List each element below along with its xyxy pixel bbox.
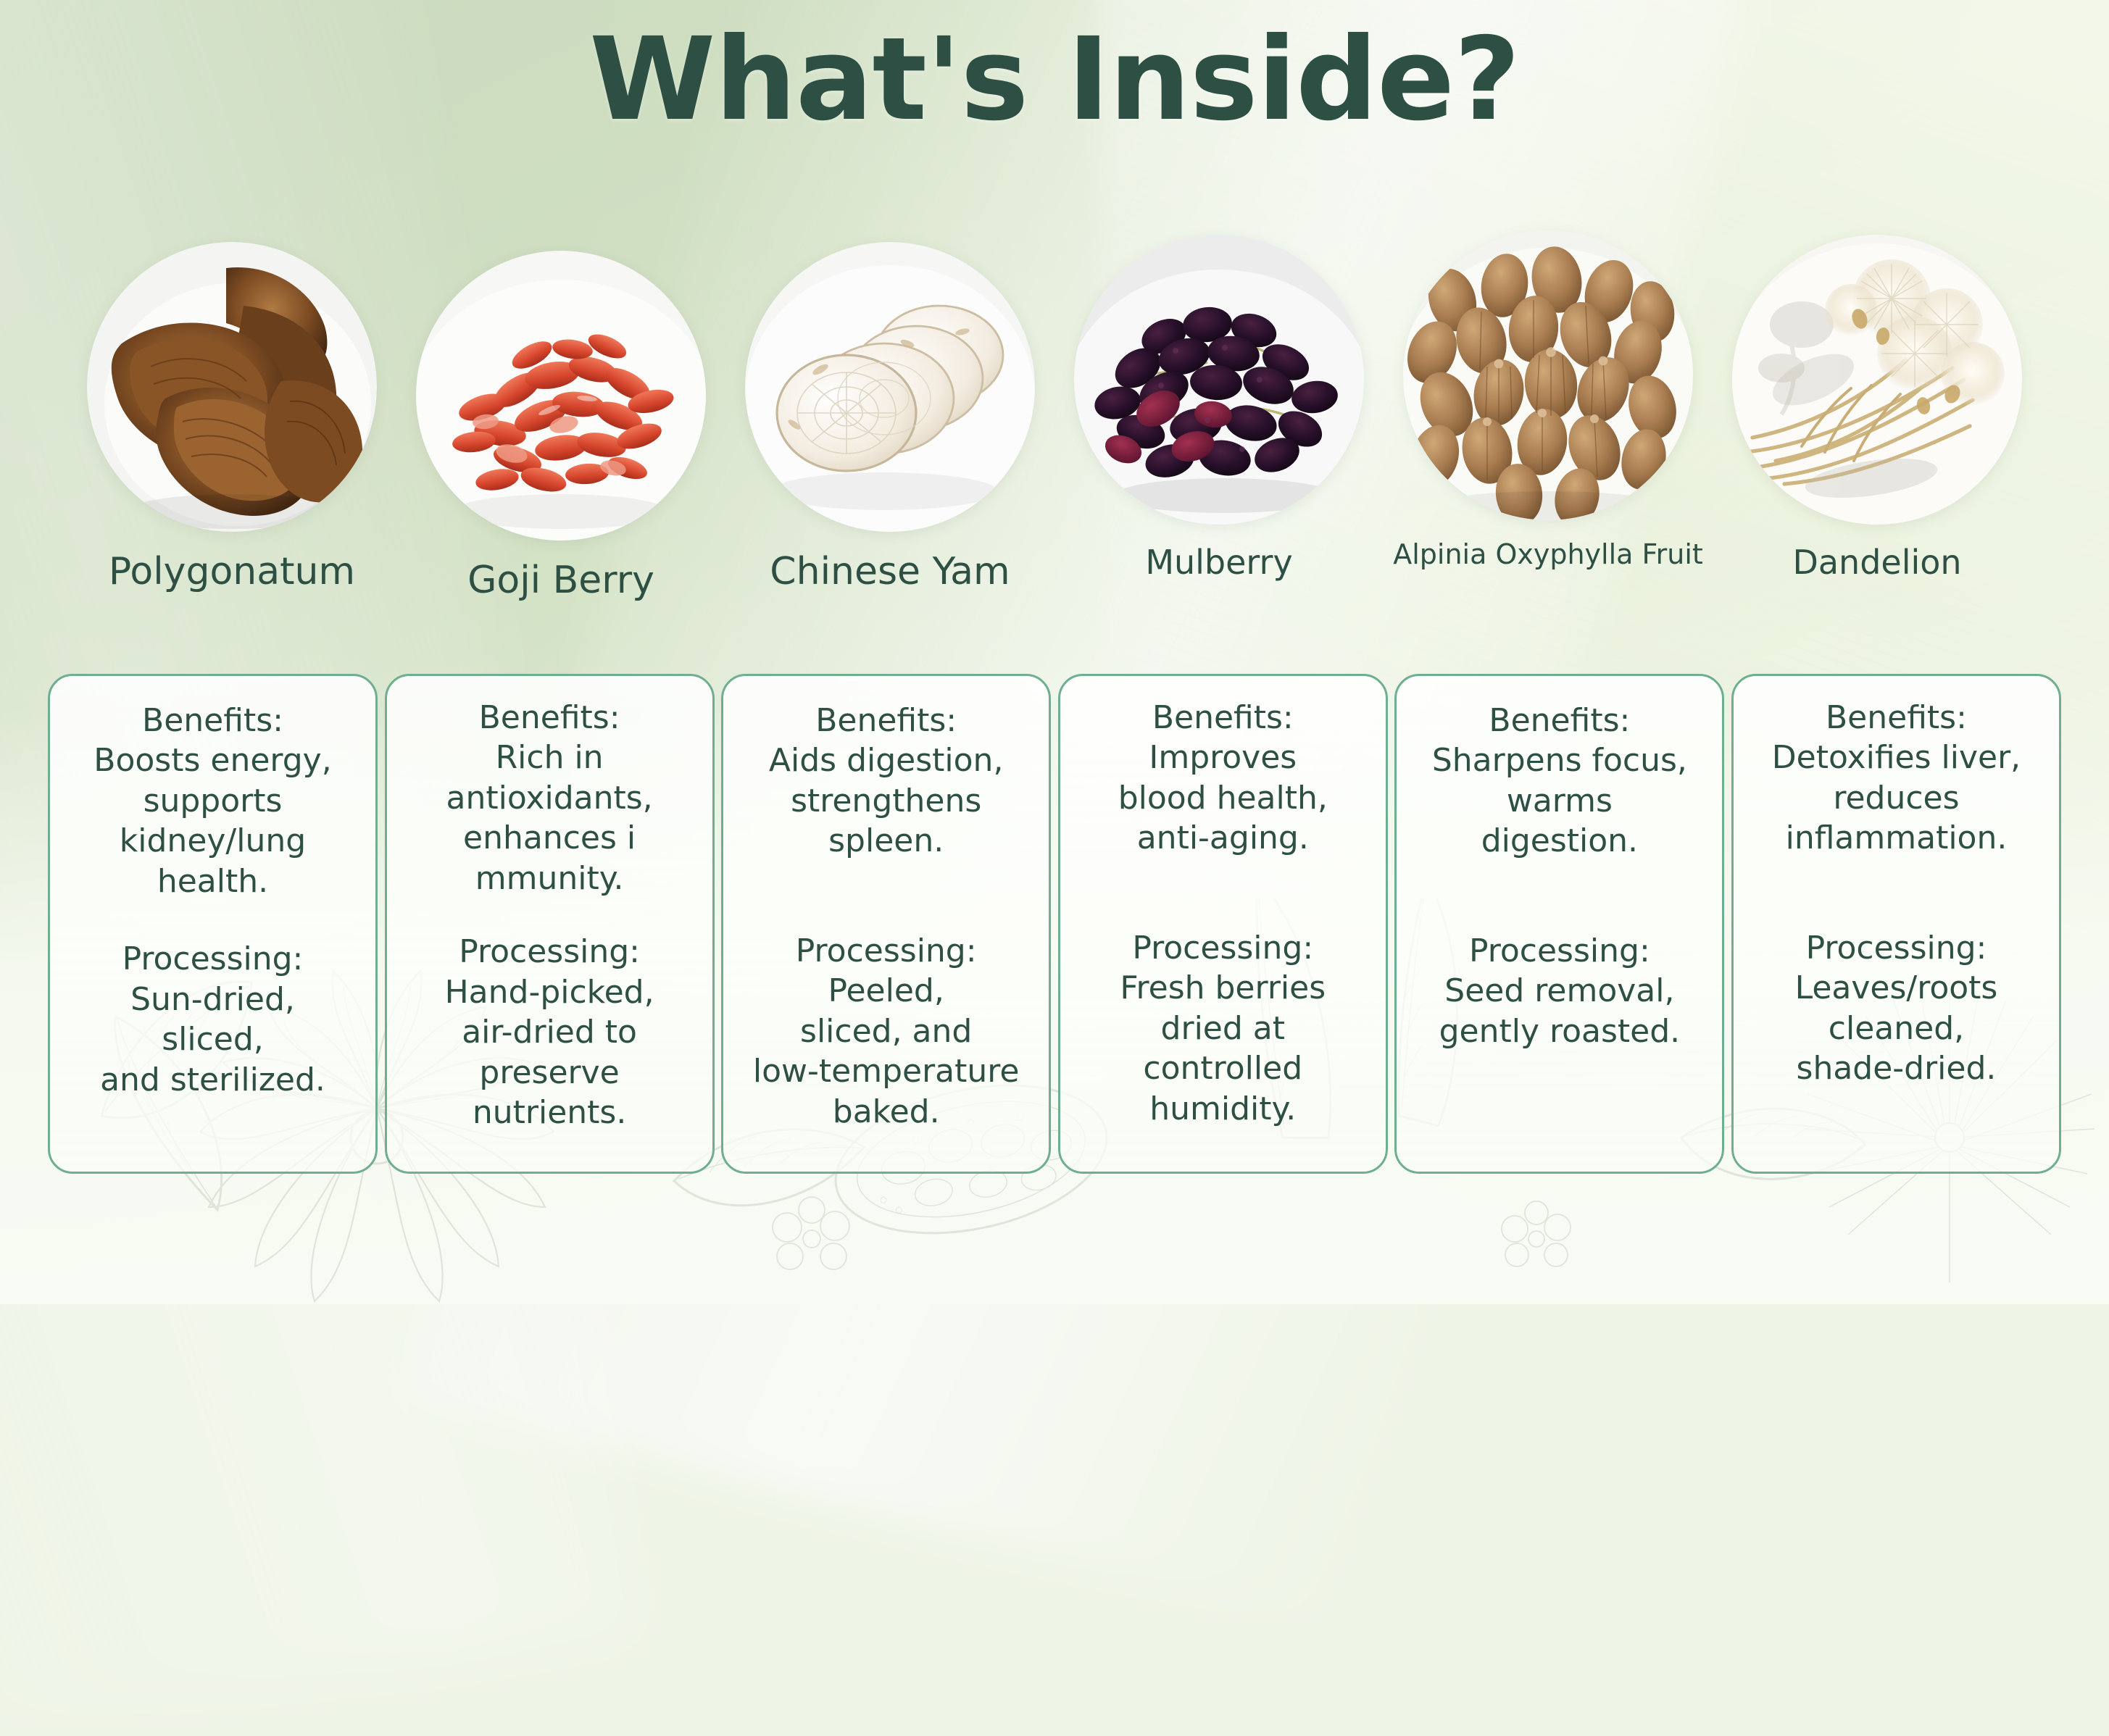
processing-text: Processing: Sun-dried, sliced, and steri… <box>100 939 325 1100</box>
processing-text: Processing: Fresh berries dried at contr… <box>1120 928 1326 1129</box>
ingredient-alpinia-oxyphylla-fruit[interactable]: Alpinia Oxyphylla Fruit <box>1396 230 1700 569</box>
ingredient-chinese-yam[interactable]: Chinese Yam <box>738 242 1042 592</box>
polygonatum-image <box>87 242 377 532</box>
info-card-polygonatum[interactable]: Benefits: Boosts energy, supports kidney… <box>48 674 378 1174</box>
ingredient-polygonatum[interactable]: Polygonatum <box>80 242 384 592</box>
info-card-dandelion[interactable]: Benefits: Detoxifies liver, reduces infl… <box>1731 674 2061 1174</box>
processing-text: Processing: Peeled, sliced, and low-temp… <box>753 931 1020 1132</box>
ingredient-mulberry[interactable]: Mulberry <box>1067 235 1371 580</box>
ingredient-dandelion[interactable]: Dandelion <box>1725 235 2029 580</box>
benefits-text: Benefits: Rich in antioxidants, enhances… <box>446 698 653 898</box>
benefits-text: Benefits: Sharpens focus, warms digestio… <box>1432 701 1687 861</box>
page-title: What's Inside? <box>0 13 2109 146</box>
info-card-chinese-yam[interactable]: Benefits: Aids digestion, strengthens sp… <box>721 674 1051 1174</box>
benefits-text: Benefits: Improves blood health, anti-ag… <box>1118 698 1328 859</box>
info-card-alpinia-oxyphylla-fruit[interactable]: Benefits: Sharpens focus, warms digestio… <box>1394 674 1724 1174</box>
ingredients-row: Polygonatum <box>0 239 2109 601</box>
alpinia-oxyphylla-image <box>1403 230 1693 520</box>
dandelion-image <box>1732 235 2022 525</box>
info-card-goji-berry[interactable]: Benefits: Rich in antioxidants, enhances… <box>385 674 715 1174</box>
ingredient-label: Goji Berry <box>467 561 654 601</box>
info-cards-row: Benefits: Boosts energy, supports kidney… <box>0 674 2109 1174</box>
mulberry-image <box>1074 235 1364 525</box>
ingredient-label: Mulberry <box>1145 545 1292 580</box>
ingredient-label: Polygonatum <box>109 552 355 592</box>
processing-text: Processing: Seed removal, gently roasted… <box>1439 931 1681 1051</box>
chinese-yam-image <box>745 242 1035 532</box>
benefits-text: Benefits: Boosts energy, supports kidney… <box>93 701 331 901</box>
ingredient-label: Alpinia Oxyphylla Fruit <box>1393 541 1703 569</box>
info-card-mulberry[interactable]: Benefits: Improves blood health, anti-ag… <box>1058 674 1388 1174</box>
ingredient-label: Dandelion <box>1792 545 1961 580</box>
processing-text: Processing: Hand-picked, air-dried to pr… <box>445 932 654 1132</box>
benefits-text: Benefits: Aids digestion, strengthens sp… <box>769 701 1004 861</box>
ingredient-goji-berry[interactable]: Goji Berry <box>409 251 713 601</box>
ingredient-label: Chinese Yam <box>770 552 1010 592</box>
processing-text: Processing: Leaves/roots cleaned, shade-… <box>1795 928 1998 1089</box>
goji-berry-image <box>416 251 706 541</box>
benefits-text: Benefits: Detoxifies liver, reduces infl… <box>1772 698 2021 859</box>
